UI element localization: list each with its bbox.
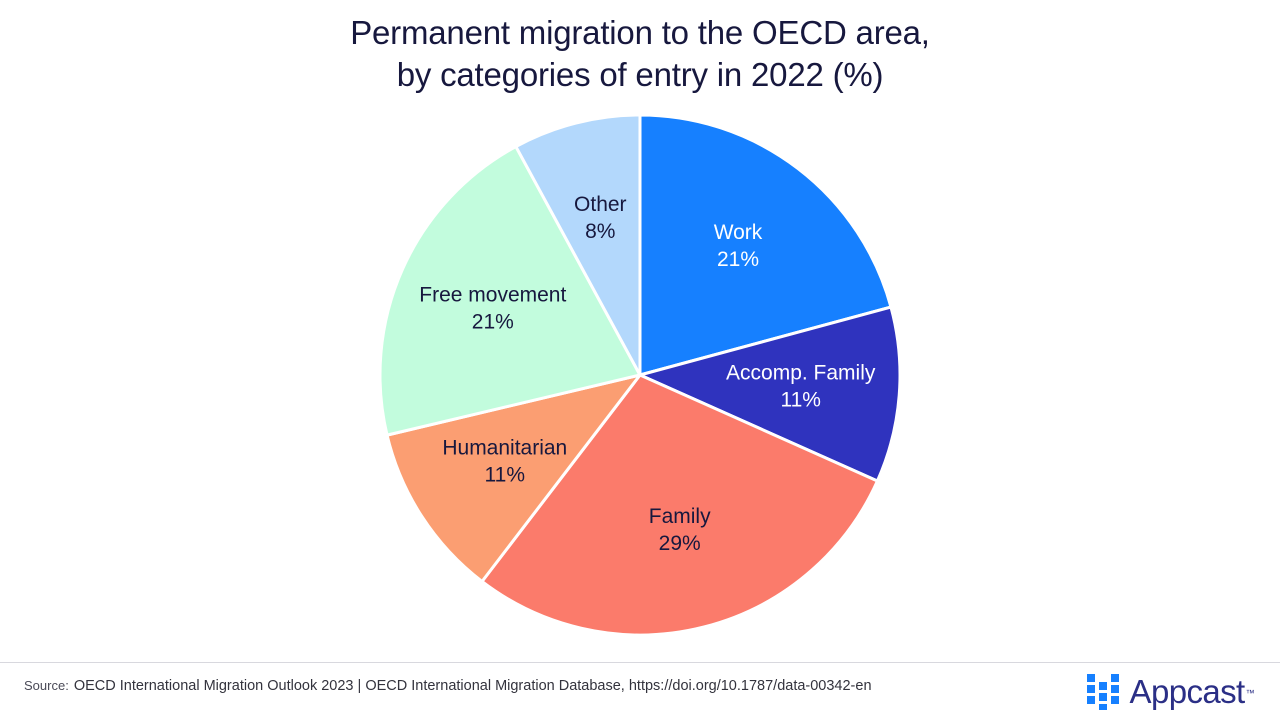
appcast-dot-grid-icon [1087, 672, 1121, 710]
appcast-logo: Appcast™ [1087, 668, 1254, 714]
appcast-wordmark-text: Appcast [1130, 673, 1245, 710]
footer-divider [0, 662, 1280, 663]
source-label: Source: [24, 678, 69, 693]
pie-chart: Work21%Accomp. Family11%Family29%Humanit… [0, 0, 1280, 660]
source-text: OECD International Migration Outlook 202… [74, 678, 872, 694]
appcast-wordmark: Appcast™ [1130, 675, 1254, 708]
source-line: Source:OECD International Migration Outl… [24, 678, 872, 694]
pie-chart-svg: Work21%Accomp. Family11%Family29%Humanit… [0, 0, 1280, 660]
trademark-symbol: ™ [1246, 688, 1254, 698]
footer: Source:OECD International Migration Outl… [0, 662, 1280, 720]
